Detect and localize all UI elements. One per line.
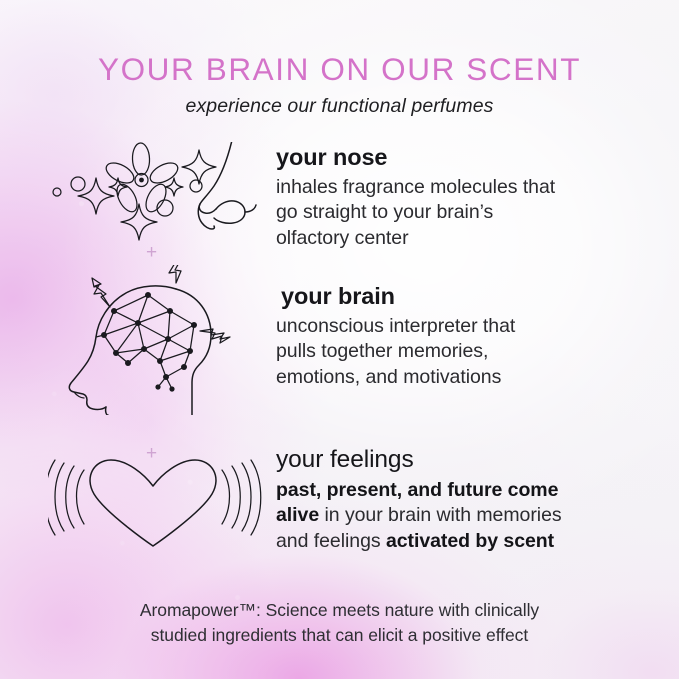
- header: YOUR BRAIN ON OUR SCENT experience our f…: [0, 52, 679, 118]
- body-fragment: and feelings: [276, 530, 386, 552]
- body-line: emotions, and motivations: [276, 366, 501, 388]
- head-network-brain-icon: [48, 265, 272, 415]
- section-your-feelings: your feelings past, present, and future …: [48, 446, 648, 562]
- section-body-nose: inhales fragrance molecules that go stra…: [276, 175, 648, 252]
- body-line: olfactory center: [276, 227, 409, 249]
- section-heading-nose: your nose: [276, 144, 648, 172]
- page-title: YOUR BRAIN ON OUR SCENT: [0, 52, 679, 87]
- section-heading-brain: your brain: [276, 283, 648, 311]
- plus-separator-1: +: [146, 243, 157, 262]
- body-line: pulls together memories,: [276, 340, 488, 362]
- infographic-poster: YOUR BRAIN ON OUR SCENT experience our f…: [0, 0, 679, 679]
- body-line: go straight to your brain’s: [276, 201, 493, 223]
- vibrating-heart-icon: [48, 452, 272, 562]
- footer-disclaimer: Aromapower™: Science meets nature with c…: [80, 598, 600, 648]
- body-fragment: past, present, and future come: [276, 479, 558, 501]
- body-line: inhales fragrance molecules that: [276, 176, 555, 198]
- body-fragment: alive: [276, 504, 319, 526]
- footer-line: Aromapower™: Science meets nature with c…: [140, 600, 539, 620]
- body-line: unconscious interpreter that: [276, 315, 515, 337]
- nose-sparkle-flower-icon: [48, 142, 272, 246]
- page-subtitle: experience our functional perfumes: [0, 95, 679, 118]
- footer-line: studied ingredients that can elicit a po…: [151, 625, 528, 645]
- section-your-nose: your nose inhales fragrance molecules th…: [48, 138, 648, 251]
- footer: Aromapower™: Science meets nature with c…: [0, 598, 679, 648]
- body-fragment: activated by scent: [386, 530, 554, 552]
- nose-text-block: your nose inhales fragrance molecules th…: [276, 138, 648, 251]
- section-your-brain: your brain unconscious interpreter that …: [48, 283, 648, 415]
- brain-text-block: your brain unconscious interpreter that …: [276, 283, 648, 390]
- section-heading-feelings: your feelings: [276, 446, 648, 475]
- body-fragment: in your brain with memories: [319, 504, 561, 526]
- section-body-brain: unconscious interpreter that pulls toget…: [276, 314, 648, 391]
- section-body-feelings: past, present, and future come alive in …: [276, 478, 648, 555]
- feelings-text-block: your feelings past, present, and future …: [276, 446, 648, 555]
